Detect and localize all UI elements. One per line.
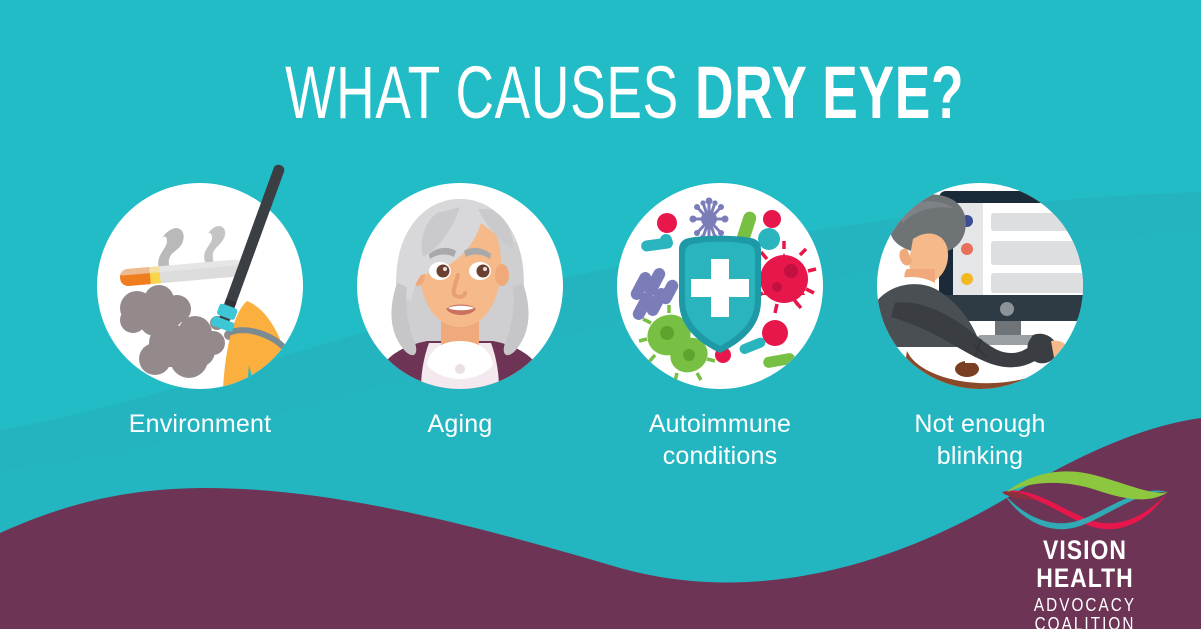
iris-right (477, 265, 490, 278)
caption-blinking-line2: blinking (937, 442, 1023, 470)
chair-shadow (955, 361, 979, 377)
germ-dot-teal-tr (758, 228, 780, 250)
screen-row-3 (991, 273, 1083, 293)
aging-disc (357, 183, 563, 389)
germ-rod-teal-left (640, 237, 673, 252)
germ-dot-red-br (762, 320, 788, 346)
ear-right (495, 264, 509, 286)
blinking-disc (877, 183, 1083, 389)
elderly-woman-icon (357, 183, 563, 389)
eye-glint-right (483, 267, 487, 271)
cigarette-smoke-broom-icon (97, 183, 303, 389)
monitor-power-button (1000, 302, 1014, 316)
germ-dot-red-tl (657, 213, 677, 233)
eye-glint-left (443, 267, 447, 271)
cause-card-environment[interactable]: Environment (85, 183, 315, 389)
caption-aging: Aging (345, 409, 575, 441)
cause-card-aging[interactable]: Aging (345, 183, 575, 389)
germ-spiky-purple (690, 198, 729, 243)
infographic-canvas: WHAT CAUSESDRY EYE? (0, 0, 1201, 629)
cause-card-blinking[interactable]: Not enough blinking (865, 183, 1095, 389)
cause-card-autoimmune[interactable]: Autoimmune conditions (605, 183, 835, 389)
environment-disc (97, 183, 303, 389)
logo[interactable]: VISION HEALTH ADVOCACY COALITION (985, 470, 1185, 629)
germ-red-nucleus-2 (772, 282, 782, 292)
caption-blinking: Not enough blinking (865, 409, 1095, 472)
sidebar-dot-yellow (961, 273, 973, 285)
germ-spiky-red (752, 241, 816, 313)
person-hand (1051, 341, 1069, 364)
caption-autoimmune-line2: conditions (663, 442, 778, 470)
germ-dot-red-tr (763, 210, 781, 228)
page-title: WHAT CAUSESDRY EYE? (0, 56, 1201, 130)
caption-autoimmune-line1: Autoimmune (649, 410, 791, 438)
person-at-computer-icon (877, 183, 1083, 389)
germ-rod-green-bottom (762, 352, 795, 368)
screen-row-1 (991, 213, 1083, 231)
vision-health-eye-mark (990, 470, 1180, 532)
iris-left (437, 265, 450, 278)
title-light-part: WHAT CAUSES (285, 56, 679, 130)
caption-autoimmune: Autoimmune conditions (605, 409, 835, 472)
title-bold-part: DRY EYE? (695, 56, 964, 130)
germ-rod-teal-bottom (738, 336, 767, 355)
shield-germs-icon (617, 183, 823, 389)
caption-environment: Environment (85, 409, 315, 441)
collar-button (455, 364, 465, 374)
caption-blinking-line1: Not enough (914, 410, 1045, 438)
sidebar-dot-salmon (961, 243, 973, 255)
germ-red-nucleus (784, 264, 798, 278)
logo-name: VISION HEALTH (1000, 536, 1170, 593)
cigarette (119, 259, 246, 287)
germ-green-nucleus-2 (683, 349, 695, 361)
germ-rods-purple (629, 266, 681, 322)
screen-row-2 (991, 241, 1083, 265)
logo-tagline: ADVOCACY COALITION (1000, 596, 1170, 629)
caption-environment-text: Environment (129, 410, 272, 438)
caption-aging-text: Aging (428, 410, 493, 438)
germ-green-nucleus (660, 326, 674, 340)
autoimmune-disc (617, 183, 823, 389)
person-ear (899, 249, 912, 266)
